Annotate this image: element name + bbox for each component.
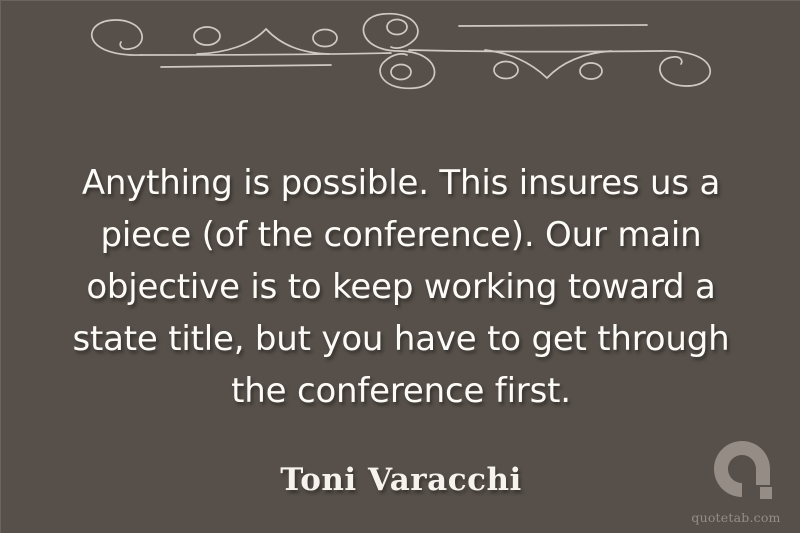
quotetab-q-logo-icon[interactable] xyxy=(712,439,774,501)
flourish-divider-icon xyxy=(1,5,800,91)
quote-author-name: Toni Varacchi xyxy=(1,462,800,498)
quote-card: Anything is possible. This insures us a … xyxy=(0,0,800,533)
quotetab-q-logo-glyph xyxy=(712,439,774,501)
flourish-divider-ornament xyxy=(1,5,800,91)
watermark-label[interactable]: quotetab.com xyxy=(684,510,788,525)
watermark[interactable]: quotetab.com xyxy=(684,439,788,527)
q-tail-square xyxy=(760,487,772,499)
quote-body-text: Anything is possible. This insures us a … xyxy=(41,157,761,417)
